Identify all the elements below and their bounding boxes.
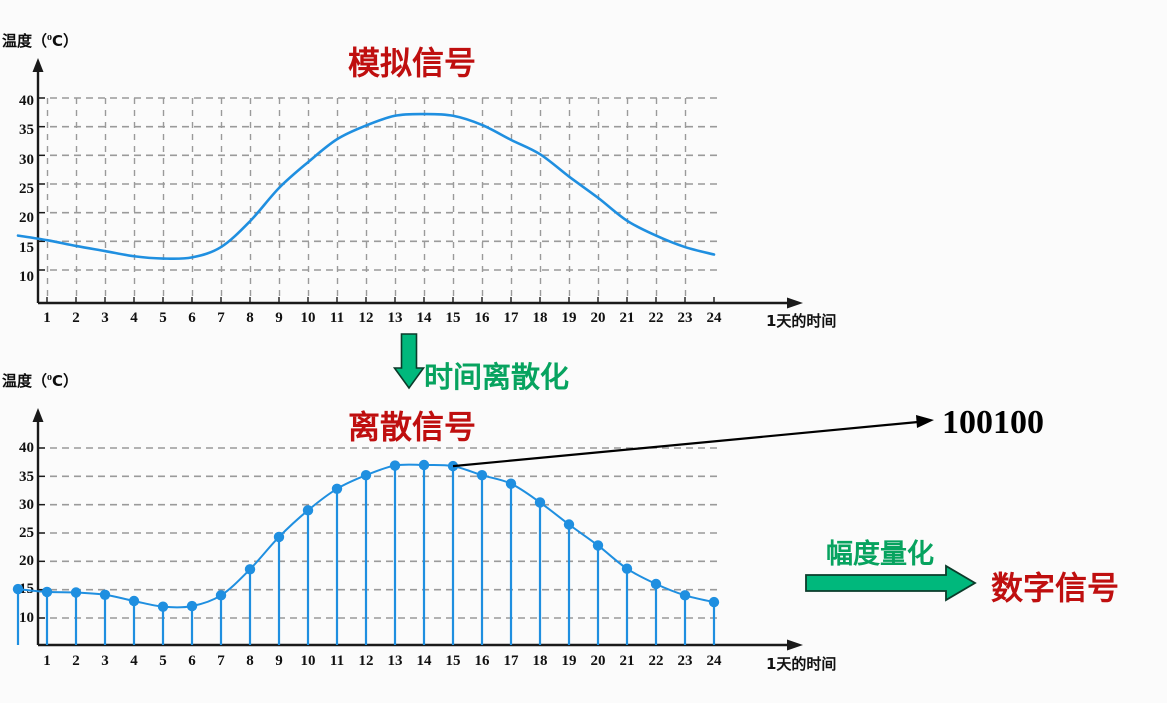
- sample-dot: [303, 505, 313, 515]
- sample-dot: [187, 601, 197, 611]
- x-axis-arrowhead: [787, 640, 803, 651]
- sample-dot: [158, 601, 168, 611]
- bitstring-pointer-arrowhead: [916, 415, 934, 428]
- discrete-xtick-20: 20: [587, 653, 609, 670]
- analog-xtick-2: 2: [65, 310, 87, 327]
- right-arrow-shape: [806, 566, 975, 600]
- sample-dot: [709, 597, 719, 607]
- x-axis-arrowhead: [787, 298, 803, 309]
- discrete-xtick-16: 16: [471, 653, 493, 670]
- chart-graphics: [0, 0, 1167, 703]
- discrete-xtick-10: 10: [297, 653, 319, 670]
- sample-dot: [216, 590, 226, 600]
- sample-dot: [71, 587, 81, 597]
- analog-xtick-23: 23: [674, 310, 696, 327]
- discrete-xtick-7: 7: [210, 653, 232, 670]
- discrete-xtick-24: 24: [703, 653, 725, 670]
- analog-xtick-16: 16: [471, 310, 493, 327]
- y-axis-arrowhead: [33, 58, 44, 72]
- analog-xtick-12: 12: [355, 310, 377, 327]
- time-discretization-arrow: [395, 334, 424, 388]
- analog-xtick-17: 17: [500, 310, 522, 327]
- analog-xtick-19: 19: [558, 310, 580, 327]
- analog-xtick-18: 18: [529, 310, 551, 327]
- analog-xtick-11: 11: [326, 310, 348, 327]
- analog-xtick-14: 14: [413, 310, 435, 327]
- analog-xtick-10: 10: [297, 310, 319, 327]
- analog-xtick-8: 8: [239, 310, 261, 327]
- discrete-xtick-8: 8: [239, 653, 261, 670]
- analog-xtick-7: 7: [210, 310, 232, 327]
- discrete-xtick-13: 13: [384, 653, 406, 670]
- discrete-xtick-5: 5: [152, 653, 174, 670]
- sample-dot: [332, 484, 342, 494]
- discrete-xtick-2: 2: [65, 653, 87, 670]
- analog-xtick-5: 5: [152, 310, 174, 327]
- sample-dot: [622, 564, 632, 574]
- discrete-xtick-15: 15: [442, 653, 464, 670]
- discrete-xtick-18: 18: [529, 653, 551, 670]
- sample-dot: [477, 470, 487, 480]
- sample-dot: [535, 497, 545, 507]
- analog-xtick-21: 21: [616, 310, 638, 327]
- y-axis-arrowhead: [33, 408, 44, 422]
- down-arrow-shape: [395, 334, 424, 388]
- sample-dot: [593, 540, 603, 550]
- slide-canvas: 温度（oC） 模拟信号 40 35 30 25 20 15 10 1天的时间 时…: [0, 0, 1167, 703]
- sample-dot: [274, 532, 284, 542]
- discrete-xtick-19: 19: [558, 653, 580, 670]
- discrete-xtick-6: 6: [181, 653, 203, 670]
- analog-xtick-15: 15: [442, 310, 464, 327]
- analog-xtick-3: 3: [94, 310, 116, 327]
- analog-xtick-20: 20: [587, 310, 609, 327]
- analog-xtick-6: 6: [181, 310, 203, 327]
- sample-dot: [390, 460, 400, 470]
- discrete-xtick-22: 22: [645, 653, 667, 670]
- discrete-xtick-11: 11: [326, 653, 348, 670]
- sample-dot: [13, 584, 23, 594]
- analog-xtick-1: 1: [36, 310, 58, 327]
- analog-xtick-22: 22: [645, 310, 667, 327]
- sample-dot: [245, 564, 255, 574]
- sample-dot: [651, 579, 661, 589]
- sample-dot: [680, 590, 690, 600]
- sample-dot: [361, 470, 371, 480]
- analog-xtick-13: 13: [384, 310, 406, 327]
- sample-dot: [42, 587, 52, 597]
- analog-xtick-24: 24: [703, 310, 725, 327]
- discrete-xtick-21: 21: [616, 653, 638, 670]
- discrete-xtick-3: 3: [94, 653, 116, 670]
- discrete-xtick-23: 23: [674, 653, 696, 670]
- sample-dot: [419, 460, 429, 470]
- discrete-xtick-12: 12: [355, 653, 377, 670]
- amplitude-quantization-arrow: [806, 566, 975, 600]
- analog-xtick-9: 9: [268, 310, 290, 327]
- discrete-xtick-9: 9: [268, 653, 290, 670]
- bitstring-pointer-line: [453, 422, 918, 466]
- discrete-xtick-14: 14: [413, 653, 435, 670]
- discrete-xtick-4: 4: [123, 653, 145, 670]
- sample-dot: [100, 590, 110, 600]
- discrete-xtick-1: 1: [36, 653, 58, 670]
- sample-dot: [129, 596, 139, 606]
- sample-dot: [564, 519, 574, 529]
- sample-dot: [506, 479, 516, 489]
- analog-xtick-4: 4: [123, 310, 145, 327]
- discrete-xtick-17: 17: [500, 653, 522, 670]
